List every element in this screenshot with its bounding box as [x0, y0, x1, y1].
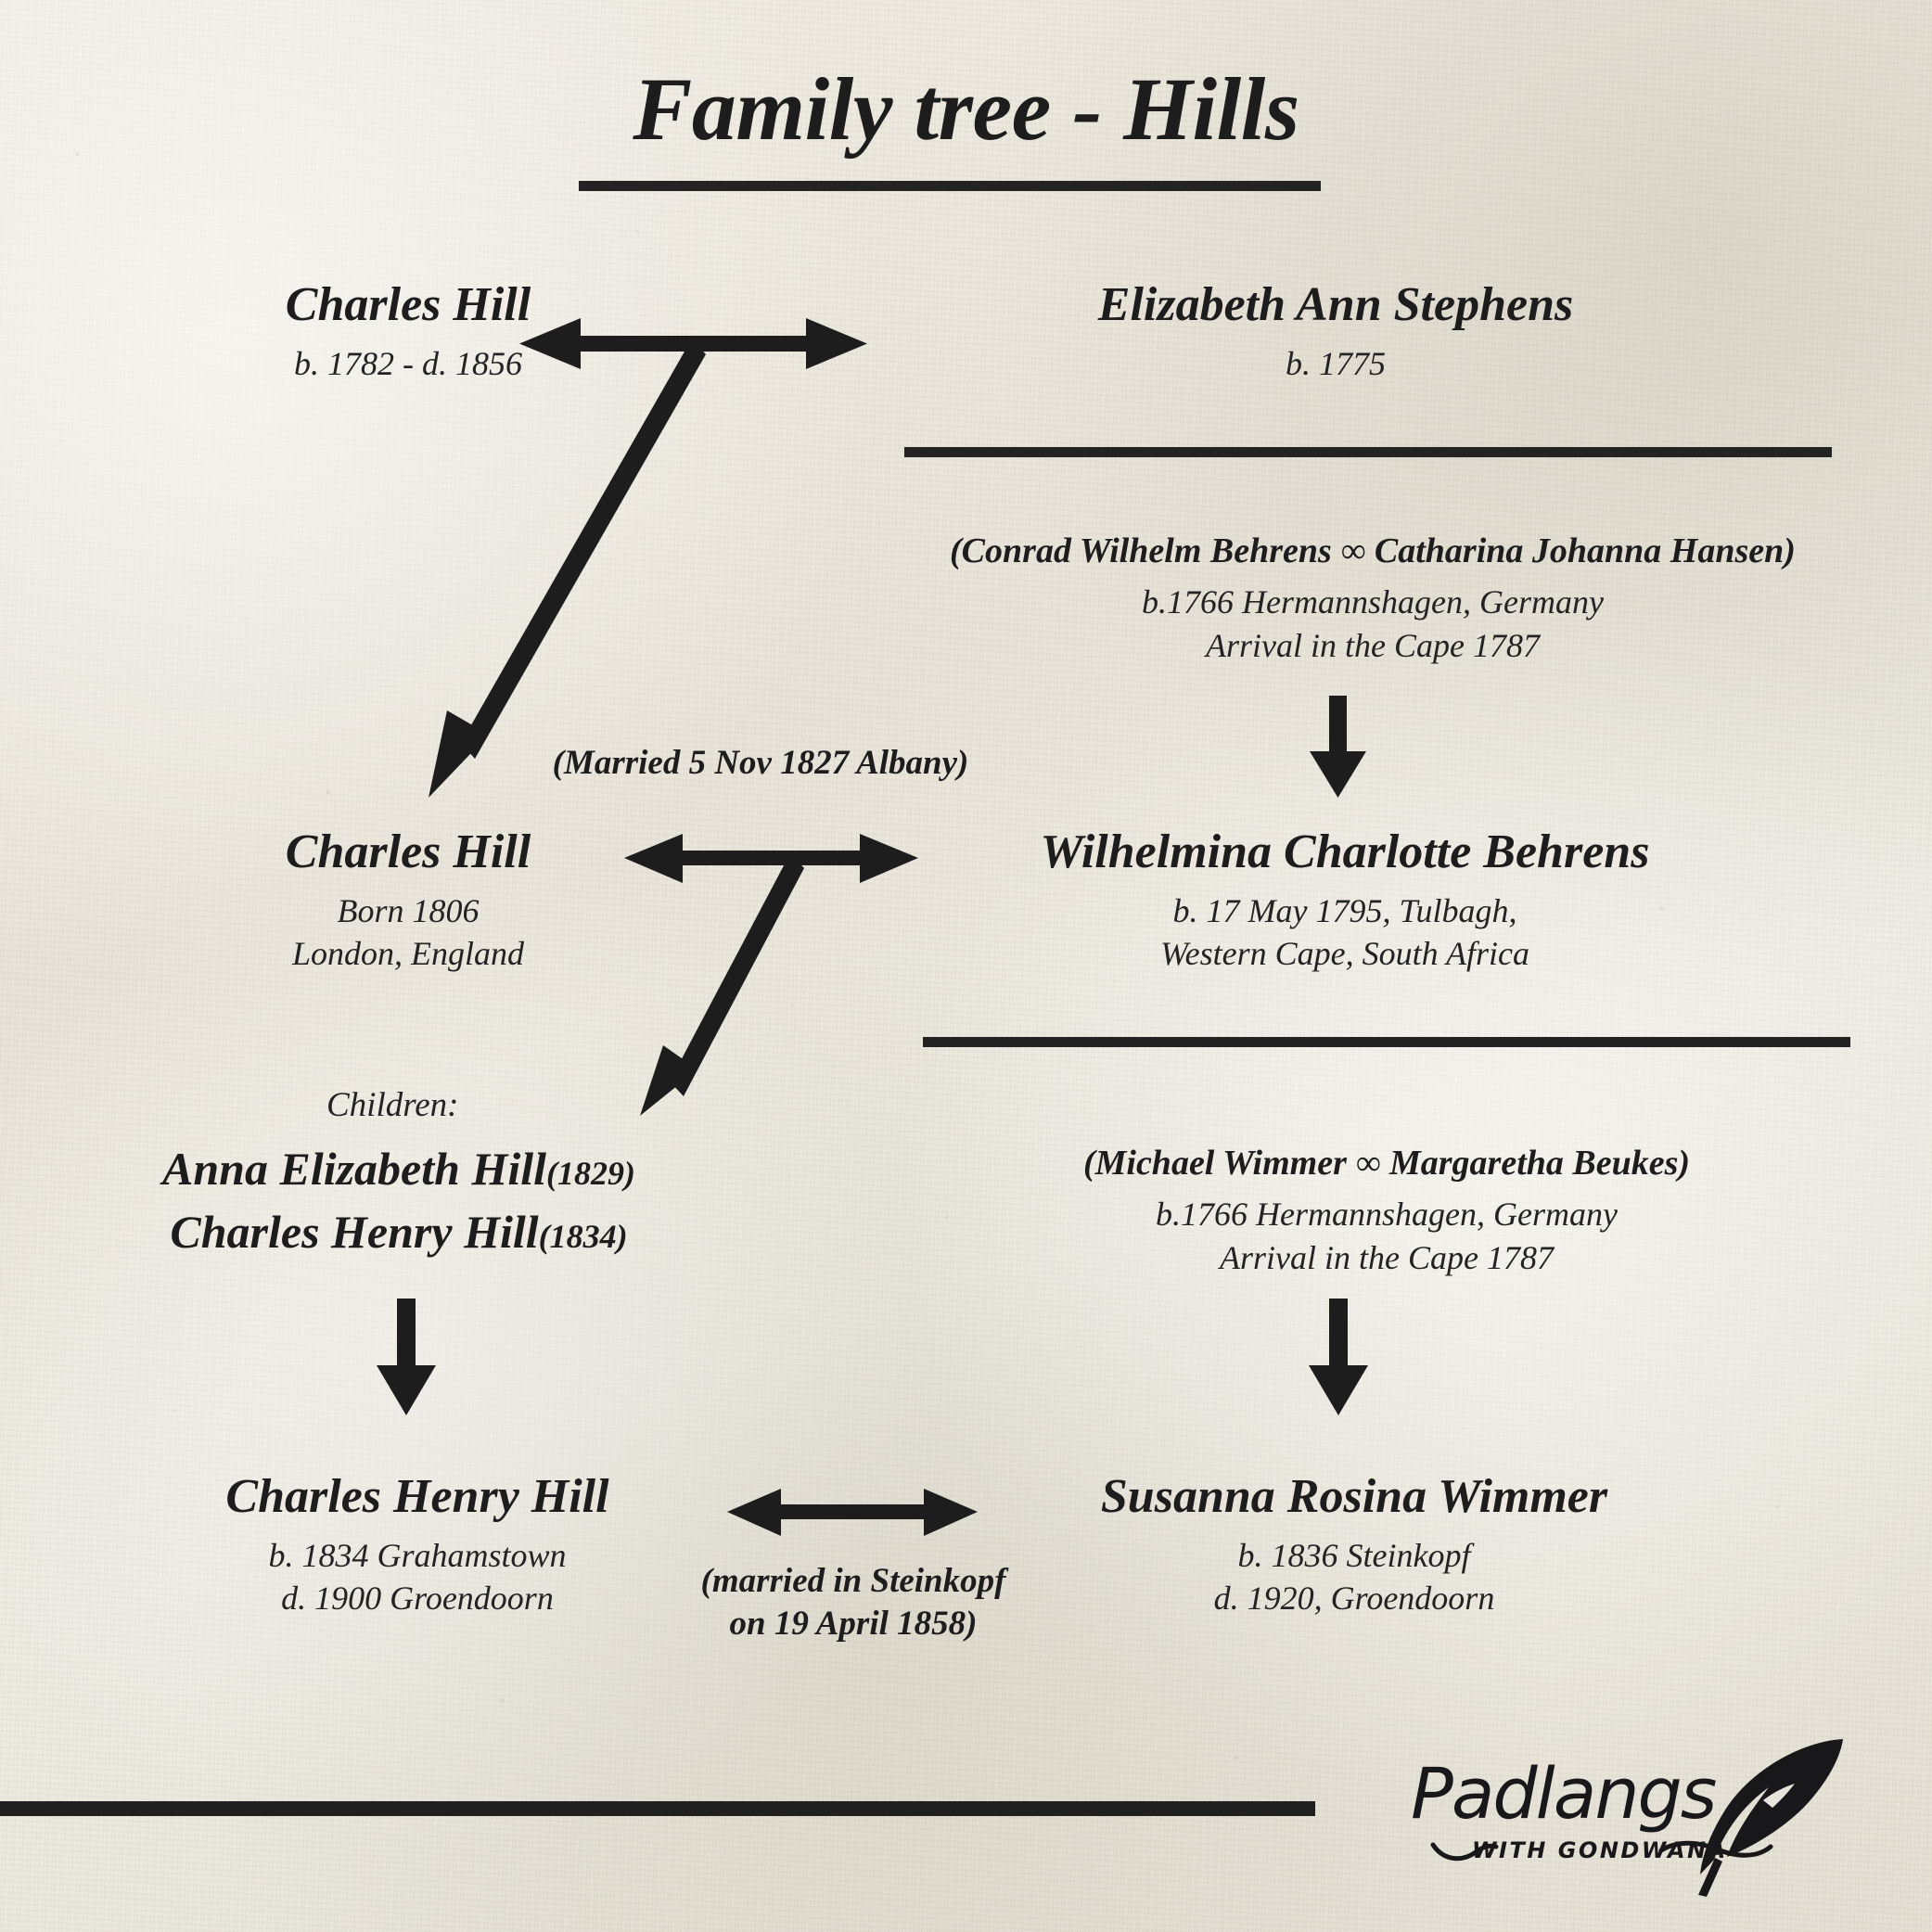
children-label: Children: — [326, 1085, 459, 1125]
person-detail-line-1: b. 1836 Steinkopf — [983, 1534, 1725, 1577]
person-detail-line-2: d. 1920, Groendoorn — [983, 1577, 1725, 1619]
footer-rule — [0, 1801, 1315, 1816]
child-year: (1829) — [546, 1155, 635, 1192]
annotation-line-2: b.1766 Hermannshagen, Germany — [816, 581, 1929, 624]
family-tree-poster: Family tree - Hills Charles Hill b. 1782… — [0, 0, 1932, 1932]
brand-name: Padlangs — [1411, 1752, 1715, 1835]
person-name: Wilhelmina Charlotte Behrens — [928, 825, 1762, 878]
padlangs-logo[interactable]: Padlangs WITH GONDWANA — [1405, 1741, 1841, 1880]
person-detail-line-1: b. 17 May 1795, Tulbagh, — [928, 889, 1762, 932]
person-name: Charles Henry Hill — [74, 1470, 761, 1523]
annotation-line-3: Arrival in the Cape 1787 — [937, 1236, 1836, 1280]
person-name: Elizabeth Ann Stephens — [965, 278, 1707, 331]
union-arrow-gen4 — [723, 1484, 983, 1549]
person-detail-line-2: Western Cape, South Africa — [928, 932, 1762, 975]
marriage-note-gen4: (married in Steinkopf on 19 April 1858) — [612, 1560, 1094, 1646]
child-year: (1834) — [539, 1218, 628, 1255]
marriage-note-line-2: on 19 April 1858) — [612, 1603, 1094, 1645]
annotation-wimmer-parents: (Michael Wimmer ∞ Margaretha Beukes) b.1… — [937, 1143, 1836, 1280]
marriage-note-line-1: (married in Steinkopf — [612, 1560, 1094, 1603]
logo-swash-flourish — [1431, 1830, 1821, 1871]
person-detail: b. 1775 — [965, 342, 1707, 385]
descent-arrow-behrens — [1303, 696, 1387, 800]
person-gen1-right: Elizabeth Ann Stephens b. 1775 — [965, 278, 1707, 385]
annotation-line-1: (Conrad Wilhelm Behrens ∞ Catharina Joha… — [816, 531, 1929, 571]
divider-behrens — [904, 447, 1832, 457]
descent-arrow-hill — [371, 1299, 454, 1417]
union-arrow-gen2 — [612, 830, 983, 1118]
page-title: Family tree - Hills — [0, 58, 1932, 160]
person-gen2-right: Wilhelmina Charlotte Behrens b. 17 May 1… — [928, 825, 1762, 975]
child-name: Anna Elizabeth Hill — [162, 1143, 546, 1195]
marriage-note-gen1: (Married 5 Nov 1827 Albany) — [464, 742, 1057, 785]
annotation-line-3: Arrival in the Cape 1787 — [816, 624, 1929, 668]
child-name: Charles Henry Hill — [170, 1206, 538, 1258]
person-gen4-right: Susanna Rosina Wimmer b. 1836 Steinkopf … — [983, 1470, 1725, 1619]
annotation-line-2: b.1766 Hermannshagen, Germany — [937, 1193, 1836, 1236]
title-underline — [579, 181, 1321, 191]
descent-arrow-wimmer — [1303, 1299, 1387, 1417]
children-list: Anna Elizabeth Hill(1829) Charles Henry … — [93, 1143, 705, 1258]
person-name: Susanna Rosina Wimmer — [983, 1470, 1725, 1523]
quill-feather-icon — [1683, 1735, 1850, 1898]
list-item: Charles Henry Hill(1834) — [93, 1206, 705, 1258]
annotation-line-1: (Michael Wimmer ∞ Margaretha Beukes) — [937, 1143, 1836, 1184]
annotation-behrens-parents: (Conrad Wilhelm Behrens ∞ Catharina Joha… — [816, 531, 1929, 668]
divider-wimmer — [923, 1037, 1850, 1047]
list-item: Anna Elizabeth Hill(1829) — [93, 1143, 705, 1195]
